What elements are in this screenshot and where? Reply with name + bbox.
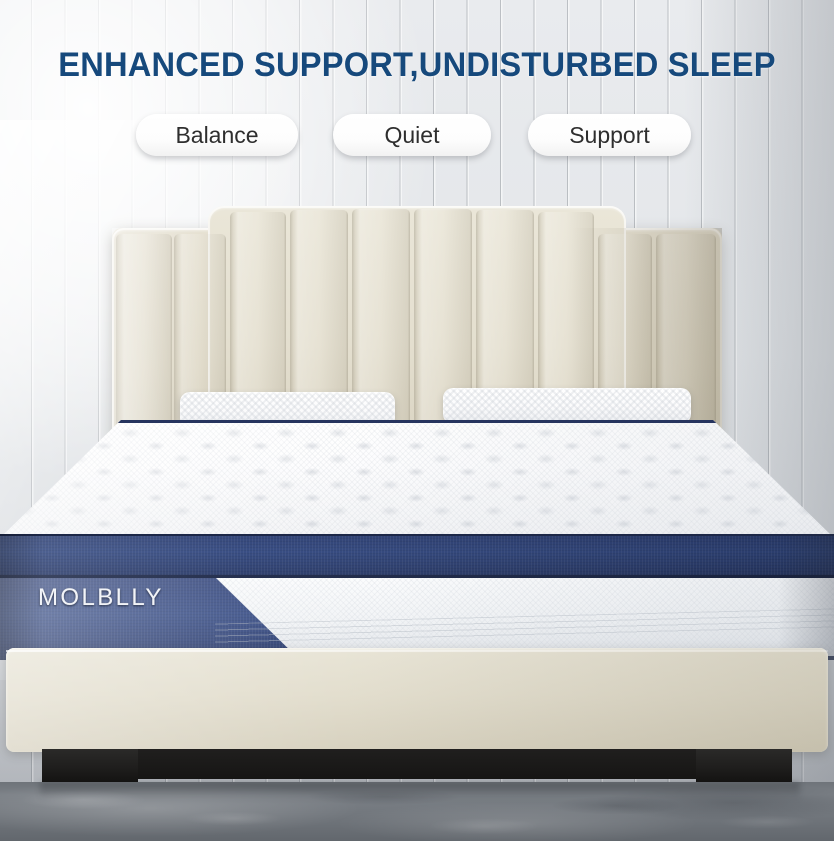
pillow-right [443, 388, 691, 424]
mattress-knit-texture [0, 420, 834, 538]
feature-badge-quiet-label: Quiet [385, 122, 440, 149]
bed-base-sheen [6, 648, 828, 752]
mattress [0, 420, 834, 665]
bed-base-rail [138, 749, 696, 779]
brand-wordmark: MOLBLLY [38, 584, 164, 612]
feature-badge-support-label: Support [569, 122, 650, 149]
bed-leg-left [42, 749, 138, 782]
concrete-floor [0, 782, 834, 841]
floor-reflection [40, 782, 800, 800]
mattress-band-sheen [0, 536, 834, 580]
feature-badge-balance: Balance [136, 114, 298, 156]
mattress-navy-pillowtop-band [0, 534, 834, 578]
feature-badge-balance-label: Balance [175, 122, 258, 149]
page-title: ENHANCED SUPPORT,UNDISTURBED SLEEP [17, 46, 818, 85]
feature-badge-group: Balance Quiet Support [0, 114, 834, 156]
bed-base-top-seam [6, 650, 828, 652]
product-marketing-image: MOLBLLY ENHANCED SUPPORT,UNDISTURBED SLE… [0, 0, 834, 841]
bed-base [6, 648, 828, 752]
feature-badge-support: Support [528, 114, 691, 156]
feature-badge-quiet: Quiet [333, 114, 491, 156]
bed-leg-right [696, 749, 792, 782]
